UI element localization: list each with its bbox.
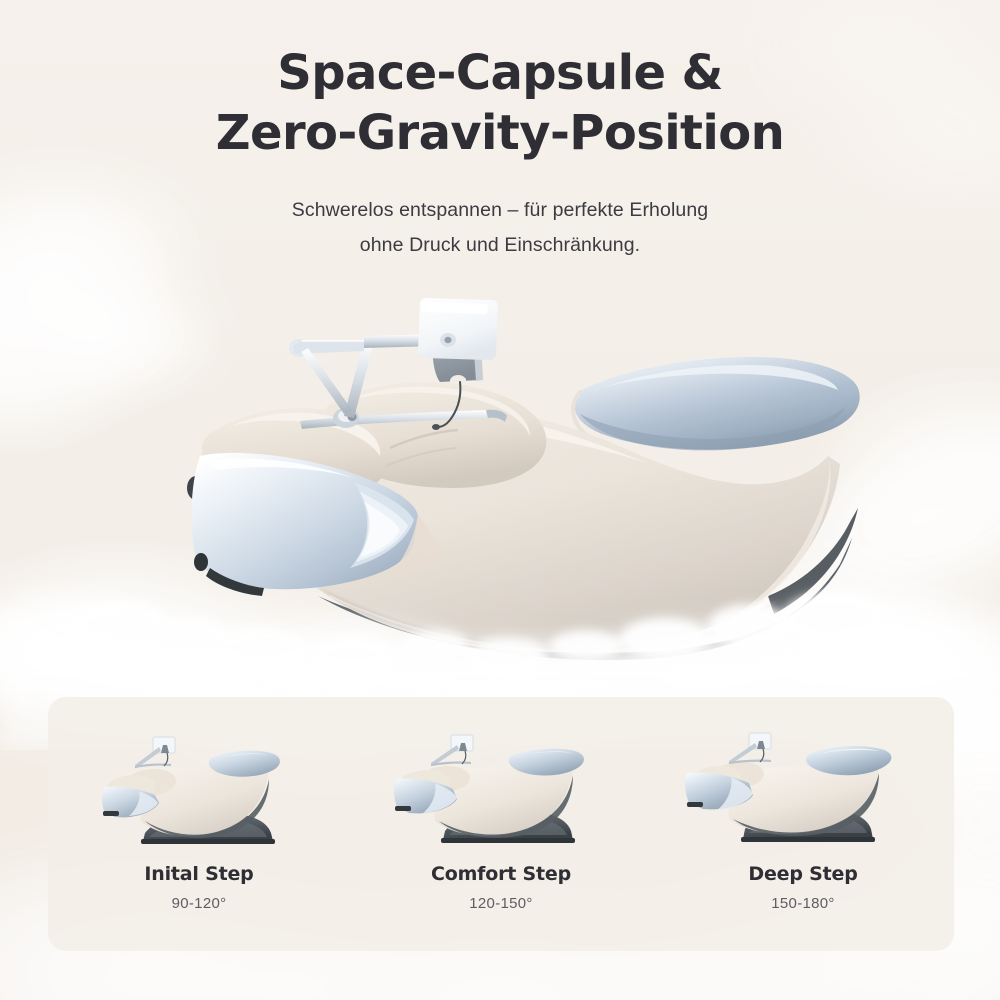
step-range-2: 150-180° [771, 895, 834, 912]
title-line-2: Zero-Gravity-Position [0, 104, 1000, 164]
page-subtitle: Schwerelos entspannen – für perfekte Erh… [0, 193, 1000, 262]
header: Space-Capsule & Zero-Gravity-Position Sc… [0, 0, 1000, 262]
step-chair-icon-1 [381, 721, 621, 849]
step-name-2: Deep Step [748, 863, 857, 885]
hero-chair-image [68, 296, 948, 696]
steps-card: Inital Step 90-120° [48, 697, 954, 951]
step-chair-icon-0 [79, 721, 319, 849]
subtitle-line-2: ohne Druck und Einschränkung. [0, 228, 1000, 263]
step-item-1[interactable]: Comfort Step 120-150° [350, 697, 652, 951]
step-item-0[interactable]: Inital Step 90-120° [48, 697, 350, 951]
step-name-0: Inital Step [144, 863, 253, 885]
step-range-1: 120-150° [469, 895, 532, 912]
title-line-1: Space-Capsule & [0, 44, 1000, 104]
page-title: Space-Capsule & Zero-Gravity-Position [0, 44, 1000, 163]
promo-banner: Space-Capsule & Zero-Gravity-Position Sc… [0, 0, 1000, 1000]
step-chair-icon-2 [683, 721, 923, 849]
step-range-0: 90-120° [172, 895, 227, 912]
step-item-2[interactable]: Deep Step 150-180° [652, 697, 954, 951]
subtitle-line-1: Schwerelos entspannen – für perfekte Erh… [0, 193, 1000, 228]
step-name-1: Comfort Step [431, 863, 571, 885]
